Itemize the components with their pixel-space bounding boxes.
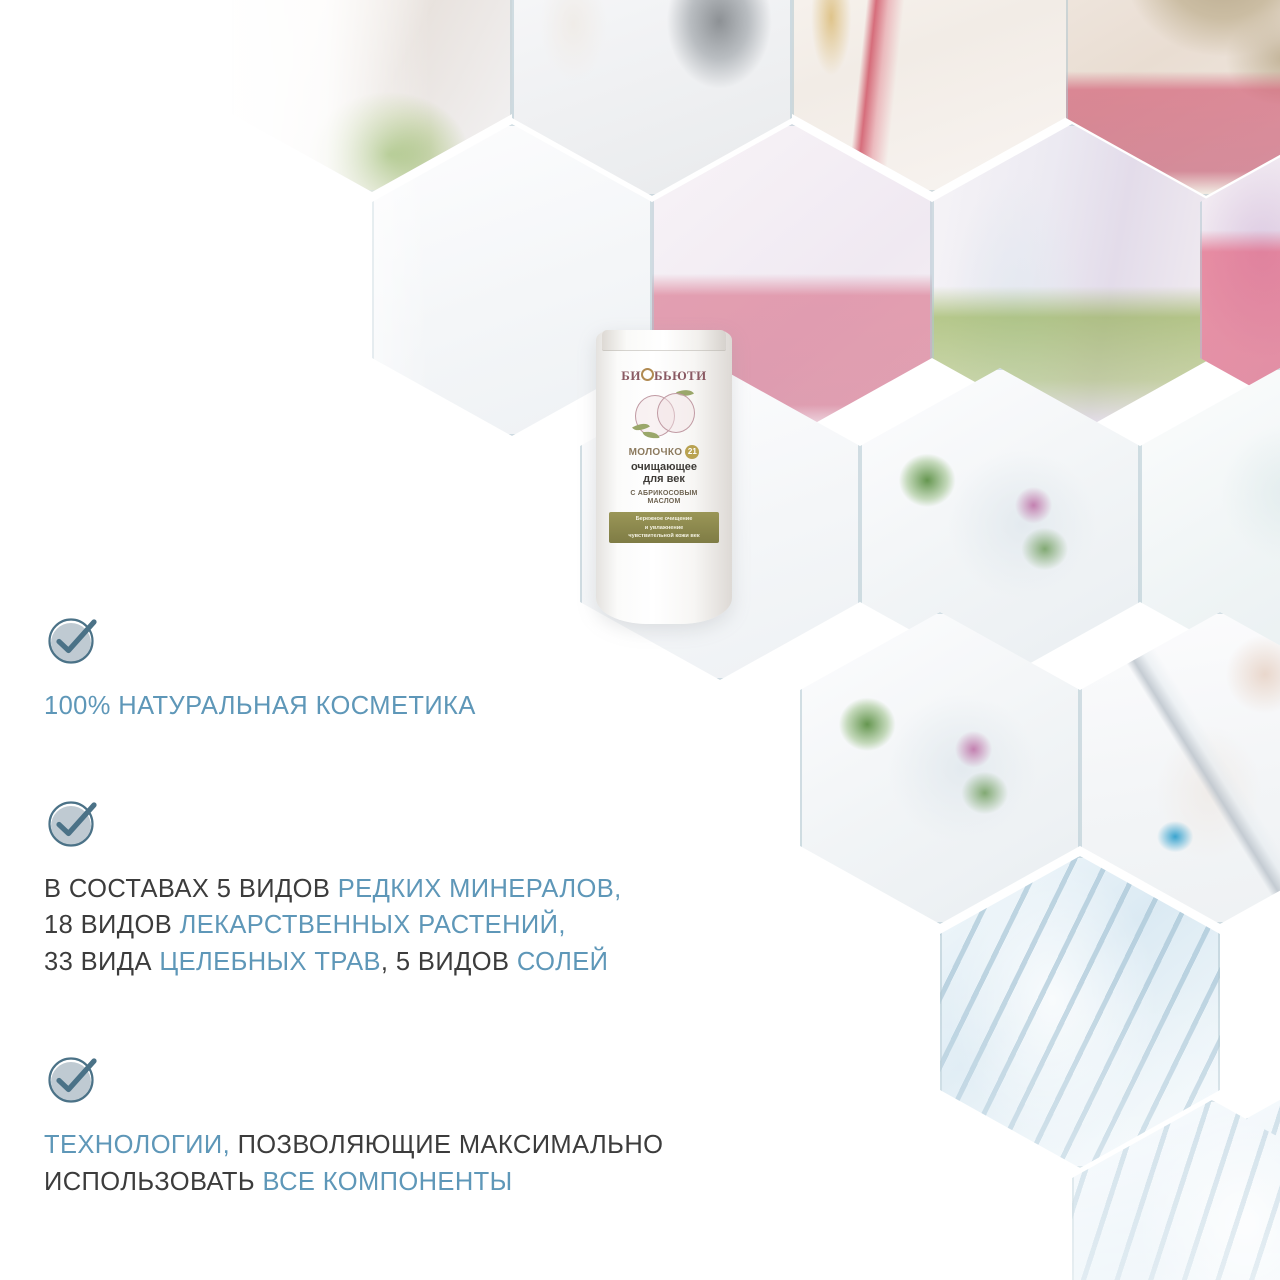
product-title-line-1: очищающее xyxy=(606,461,722,473)
feature-text-segment: В СОСТАВАХ 5 ВИДОВ xyxy=(44,875,338,903)
product-subtitle-line-1: С АБРИКОСОВЫМ xyxy=(606,490,722,498)
product-title: очищающее для век xyxy=(606,461,722,486)
promo-page: БИБЬЮТИ МОЛОЧКО 21 очищающее для век С А… xyxy=(0,0,1280,1280)
check-circle-icon xyxy=(44,1051,102,1109)
product-word: МОЛОЧКО xyxy=(629,447,683,458)
brand-name-tail: БЬЮТИ xyxy=(654,368,707,383)
product-banner-line-1: Бережное очищение xyxy=(611,515,717,523)
feature-text-segment: ЦЕЛЕБНЫХ ТРАВ xyxy=(159,948,381,976)
check-circle-icon xyxy=(44,795,102,853)
product-subtitle-line-2: МАСЛОМ xyxy=(606,498,722,506)
feature-text-segment: 33 ВИДА xyxy=(44,948,159,976)
feature-text-segment: СОЛЕЙ xyxy=(517,948,608,976)
feature-item-technologies: ТЕХНОЛОГИИ, ПОЗВОЛЯЮЩИЕ МАКСИМАЛЬНО ИСПО… xyxy=(44,1051,874,1200)
brand-o-mark-icon xyxy=(641,368,654,381)
product-word-row: МОЛОЧКО 21 xyxy=(606,445,722,459)
product-banner-line-3: чувствительной кожи век xyxy=(611,532,717,540)
product-tube: БИБЬЮТИ МОЛОЧКО 21 очищающее для век С А… xyxy=(596,330,732,624)
product-banner: Бережное очищение и увлажнение чувствите… xyxy=(609,512,719,542)
brand-name: БИБЬЮТИ xyxy=(606,368,722,384)
feature-text-segment: ВСЕ КОМПОНЕНТЫ xyxy=(263,1168,513,1196)
tube-label: БИБЬЮТИ МОЛОЧКО 21 очищающее для век С А… xyxy=(606,368,722,543)
brand-name-head: БИ xyxy=(621,368,641,383)
product-title-line-2: для век xyxy=(606,473,722,485)
feature-text: В СОСТАВАХ 5 ВИДОВ РЕДКИХ МИНЕРАЛОВ, 18 … xyxy=(44,871,874,981)
product-banner-line-2: и увлажнение xyxy=(611,524,717,532)
feature-item-natural-cosmetics: 100% НАТУРАЛЬНАЯ КОСМЕТИКА xyxy=(44,612,874,725)
feature-text-segment: , 5 ВИДОВ xyxy=(381,948,517,976)
feature-item-ingredients: В СОСТАВАХ 5 ВИДОВ РЕДКИХ МИНЕРАЛОВ, 18 … xyxy=(44,795,874,981)
product-number-badge: 21 xyxy=(685,445,699,459)
feature-text-segment: ЛЕКАРСТВЕННЫХ РАСТЕНИЙ, xyxy=(180,911,566,939)
feature-text: 100% НАТУРАЛЬНАЯ КОСМЕТИКА xyxy=(44,688,874,725)
check-circle-icon xyxy=(44,612,102,670)
feature-text-segment: РЕДКИХ МИНЕРАЛОВ, xyxy=(338,875,622,903)
apricot-illustration-icon xyxy=(633,387,695,443)
apricot-whole xyxy=(657,393,695,433)
feature-text: ТЕХНОЛОГИИ, ПОЗВОЛЯЮЩИЕ МАКСИМАЛЬНО ИСПО… xyxy=(44,1127,874,1200)
feature-text-segment: 18 ВИДОВ xyxy=(44,911,180,939)
feature-text-segment: ТЕХНОЛОГИИ, xyxy=(44,1131,230,1159)
tube-cap xyxy=(602,330,726,351)
feature-text-segment: 100% НАТУРАЛЬНАЯ КОСМЕТИКА xyxy=(44,692,476,720)
feature-list: 100% НАТУРАЛЬНАЯ КОСМЕТИКА В СОСТАВАХ 5 … xyxy=(44,612,874,1200)
product-subtitle: С АБРИКОСОВЫМ МАСЛОМ xyxy=(606,490,722,507)
